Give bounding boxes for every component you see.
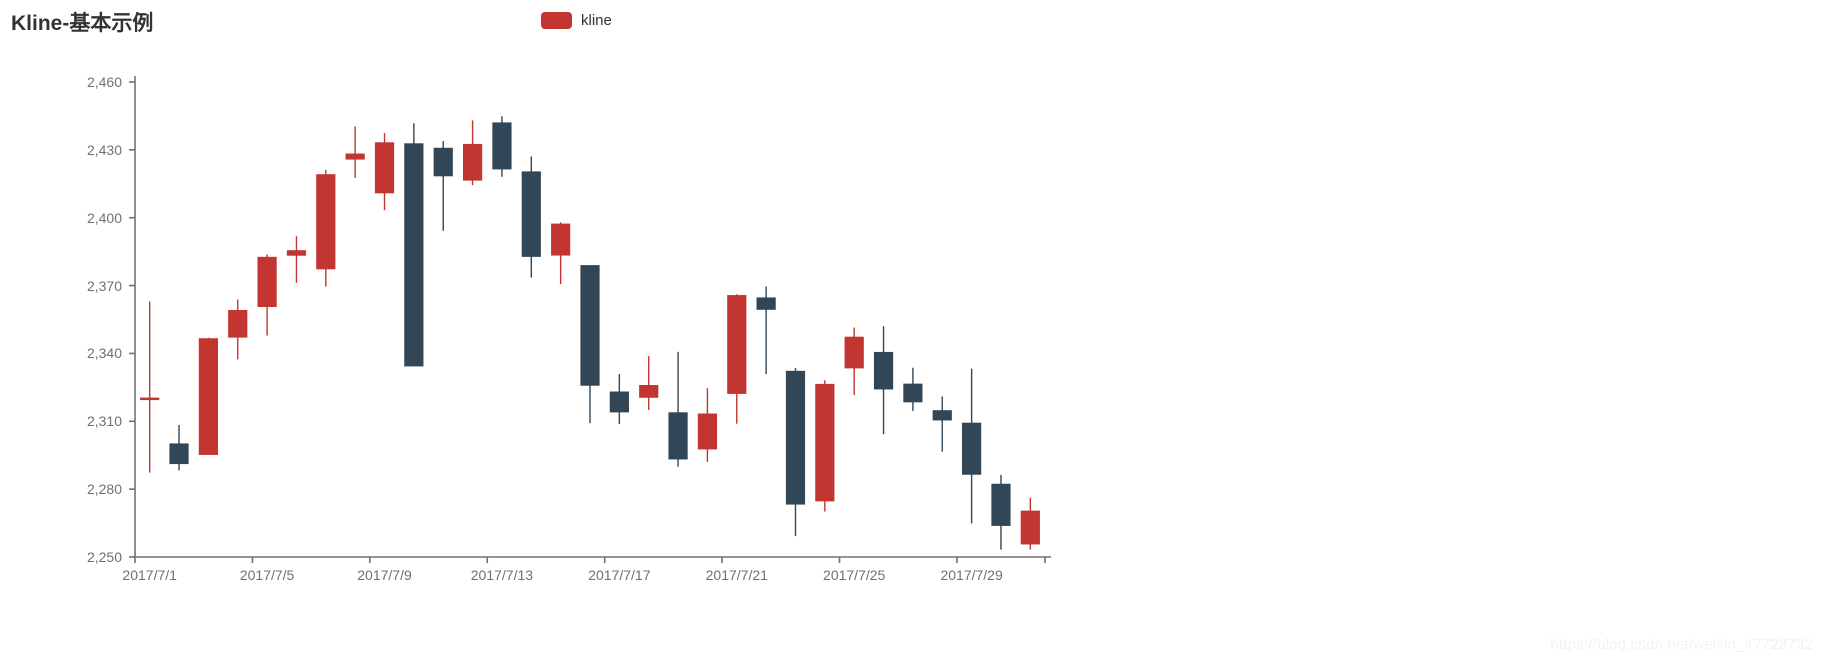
- candlestick: [141, 302, 159, 473]
- candlestick: [933, 396, 951, 451]
- candlestick: [816, 380, 834, 511]
- kline-chart: Kline-基本示例 kline 2,4602,4302,4002,3702,3…: [0, 0, 1823, 663]
- candle-body-down[interactable]: [405, 144, 423, 366]
- x-axis-tick-label: 2017/7/9: [357, 567, 412, 583]
- candlestick: [992, 475, 1010, 550]
- candlestick: [199, 338, 217, 455]
- candle-body-up[interactable]: [552, 224, 570, 255]
- candle-body-up[interactable]: [463, 144, 481, 180]
- x-axis-tick-label: 2017/7/17: [588, 567, 650, 583]
- candlestick: [874, 326, 892, 434]
- candlestick: [904, 368, 922, 411]
- x-axis-tick-label: 2017/7/5: [240, 567, 295, 583]
- candlestick: [229, 300, 247, 360]
- candle-body-down[interactable]: [170, 444, 188, 464]
- candle-body-up[interactable]: [346, 154, 364, 159]
- candle-body-down[interactable]: [757, 298, 775, 309]
- plot-area: 2,4602,4302,4002,3702,3402,3102,2802,250…: [0, 0, 1823, 663]
- candle-body-up[interactable]: [258, 257, 276, 306]
- candlestick: [346, 126, 364, 178]
- candle-body-down[interactable]: [874, 352, 892, 389]
- candle-body-up[interactable]: [317, 175, 335, 269]
- candle-body-up[interactable]: [229, 310, 247, 337]
- y-axis-tick-label: 2,460: [0, 74, 122, 90]
- candlestick: [1021, 498, 1039, 550]
- candlestick: [552, 222, 570, 284]
- candlestick: [728, 294, 746, 423]
- candle-body-up[interactable]: [199, 339, 217, 455]
- x-axis-tick-label: 2017/7/13: [471, 567, 533, 583]
- candle-body-down[interactable]: [434, 148, 452, 176]
- candlestick-svg: [0, 0, 1823, 663]
- candle-body-down[interactable]: [493, 123, 511, 169]
- x-axis-tick-label: 2017/7/21: [706, 567, 768, 583]
- candle-body-up[interactable]: [698, 414, 716, 449]
- candle-body-down[interactable]: [904, 384, 922, 402]
- candlestick: [757, 286, 775, 374]
- candle-body-up[interactable]: [728, 296, 746, 394]
- y-axis-tick-label: 2,430: [0, 142, 122, 158]
- candlestick: [258, 254, 276, 335]
- x-axis-tick-label: 2017/7/25: [823, 567, 885, 583]
- candle-body-down[interactable]: [992, 484, 1010, 525]
- candlestick: [434, 141, 452, 231]
- candlestick: [698, 388, 716, 462]
- candle-body-up[interactable]: [287, 251, 305, 256]
- candle-body-down[interactable]: [610, 392, 628, 412]
- candlestick: [522, 156, 540, 277]
- candlestick: [610, 374, 628, 424]
- candlestick: [317, 170, 335, 287]
- y-axis-tick-label: 2,400: [0, 210, 122, 226]
- candlestick: [581, 266, 599, 424]
- y-axis-tick-label: 2,310: [0, 413, 122, 429]
- watermark-text: https://blog.csdn.net/weixin_47723732: [1550, 636, 1813, 653]
- candle-body-up[interactable]: [640, 386, 658, 398]
- candle-layer: [141, 116, 1040, 549]
- candle-body-down[interactable]: [581, 266, 599, 386]
- candle-body-up[interactable]: [375, 143, 393, 193]
- candle-body-down[interactable]: [669, 413, 687, 459]
- y-axis-tick-label: 2,280: [0, 481, 122, 497]
- candlestick: [669, 352, 687, 467]
- candle-body-down[interactable]: [786, 371, 804, 504]
- candle-body-up[interactable]: [141, 398, 159, 400]
- candlestick: [963, 369, 981, 524]
- candle-body-down[interactable]: [933, 411, 951, 420]
- candlestick: [640, 356, 658, 410]
- candlestick: [170, 425, 188, 471]
- candle-body-up[interactable]: [845, 337, 863, 368]
- candle-body-up[interactable]: [1021, 511, 1039, 544]
- candlestick: [375, 133, 393, 210]
- y-axis-tick-label: 2,250: [0, 549, 122, 565]
- candle-body-down[interactable]: [522, 172, 540, 256]
- candlestick: [493, 116, 511, 176]
- x-axis-tick-label: 2017/7/29: [940, 567, 1002, 583]
- candle-body-down[interactable]: [963, 423, 981, 474]
- candlestick: [845, 328, 863, 395]
- y-axis-tick-label: 2,370: [0, 278, 122, 294]
- candlestick: [405, 123, 423, 366]
- candlestick: [786, 368, 804, 536]
- y-axis-tick-label: 2,340: [0, 345, 122, 361]
- candlestick: [287, 236, 305, 283]
- candle-body-up[interactable]: [816, 384, 834, 500]
- candlestick: [463, 120, 481, 185]
- x-axis-tick-label: 2017/7/1: [122, 567, 177, 583]
